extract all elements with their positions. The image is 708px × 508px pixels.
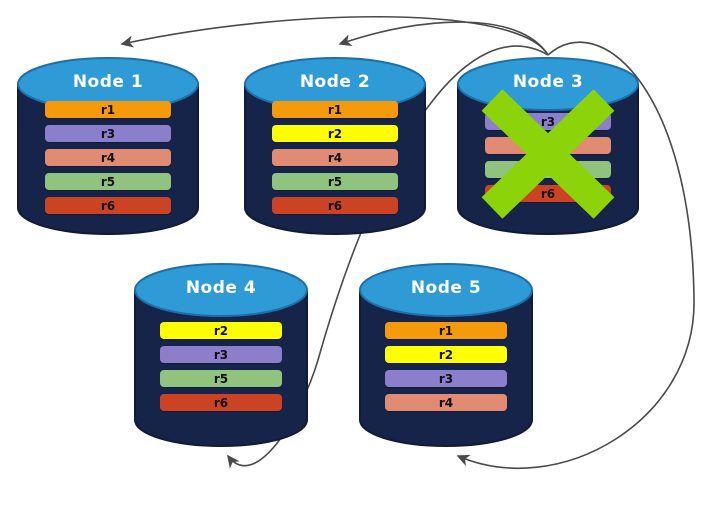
replica-bar-r2[interactable]: r2 xyxy=(160,322,282,339)
replica-bar-r2[interactable]: r2 xyxy=(272,125,398,142)
replica-bar-r6[interactable]: r6 xyxy=(45,197,171,214)
replica-bar-r4[interactable]: r4 xyxy=(45,149,171,166)
arrow-node3-to-node1 xyxy=(122,17,548,55)
replica-bar-r4[interactable]: r4 xyxy=(385,394,507,411)
arrow-node3-to-node2 xyxy=(340,22,548,55)
database-node-1[interactable]: Node 1r1r3r4r5r6 xyxy=(16,56,200,236)
replica-bar-r1[interactable]: r1 xyxy=(45,101,171,118)
replica-bar-r6[interactable]: r6 xyxy=(160,394,282,411)
replica-bar-list: r1r2r3r4 xyxy=(358,322,534,411)
replica-bar-r5[interactable]: r5 xyxy=(485,161,611,178)
database-node-5[interactable]: Node 5r1r2r3r4 xyxy=(358,262,534,448)
replica-bar-r3[interactable]: r3 xyxy=(385,370,507,387)
replica-bar-r2[interactable]: r2 xyxy=(385,346,507,363)
replica-bar-r4[interactable]: r4 xyxy=(272,149,398,166)
replica-bar-r4[interactable]: r4 xyxy=(485,137,611,154)
database-node-3-failed[interactable]: Node 3r3r4r5r6 xyxy=(456,56,640,236)
replica-bar-r5[interactable]: r5 xyxy=(160,370,282,387)
database-node-2[interactable]: Node 2r1r2r4r5r6 xyxy=(243,56,427,236)
cylinder-top-disc xyxy=(458,58,638,110)
database-node-4[interactable]: Node 4r2r3r5r6 xyxy=(133,262,309,448)
replica-bar-r6[interactable]: r6 xyxy=(272,197,398,214)
diagram-canvas: Node 1r1r3r4r5r6 Node 2r1r2r4r5r6 Node 3… xyxy=(0,0,708,508)
replica-bar-r5[interactable]: r5 xyxy=(45,173,171,190)
replica-bar-list: r2r3r5r6 xyxy=(133,322,309,411)
replica-bar-r3[interactable]: r3 xyxy=(160,346,282,363)
replica-bar-r3[interactable]: r3 xyxy=(45,125,171,142)
replica-bar-list: r1r3r4r5r6 xyxy=(16,101,200,214)
cylinder-top-disc xyxy=(360,264,532,316)
replica-bar-r5[interactable]: r5 xyxy=(272,173,398,190)
replica-bar-r6[interactable]: r6 xyxy=(485,185,611,202)
replica-bar-r1[interactable]: r1 xyxy=(272,101,398,118)
replica-bar-r1[interactable]: r1 xyxy=(385,322,507,339)
replica-bar-list: r3r4r5r6 xyxy=(456,113,640,202)
replica-bar-list: r1r2r4r5r6 xyxy=(243,101,427,214)
replica-bar-r3[interactable]: r3 xyxy=(485,113,611,130)
cylinder-top-disc xyxy=(135,264,307,316)
